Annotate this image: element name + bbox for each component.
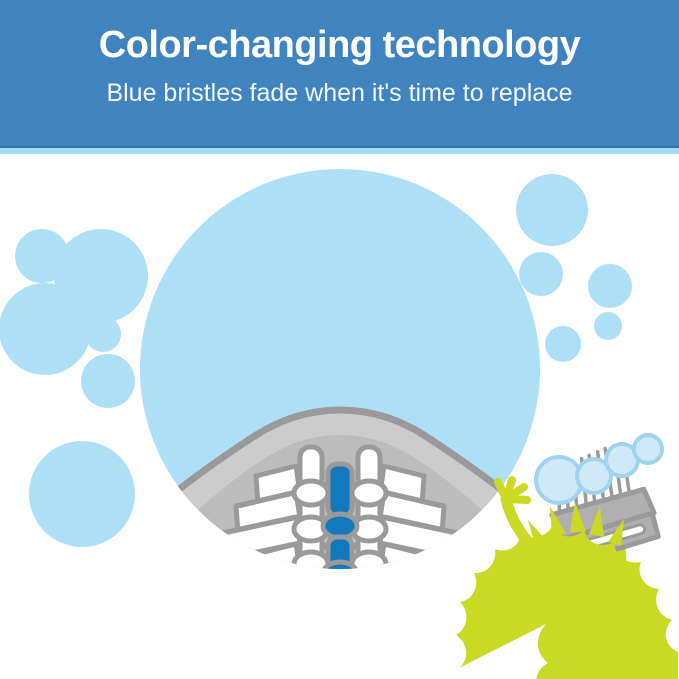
illustration-stage [0, 154, 679, 679]
indicator-bristle-oval [323, 606, 357, 630]
indicator-bristle-bar [328, 584, 352, 612]
foam-bubble [536, 457, 582, 503]
bristle-tuft [294, 481, 328, 505]
bubble [588, 264, 632, 308]
bubble [81, 354, 135, 408]
page-title: Color-changing technology [0, 22, 679, 68]
bristle-tuft [294, 552, 328, 576]
bristle-tuft [352, 481, 386, 505]
page-subtitle: Blue bristles fade when it's time to rep… [0, 77, 679, 109]
indicator-bristle-bar [328, 464, 352, 516]
bubble [85, 316, 121, 352]
bubble [519, 252, 563, 296]
header-banner: Color-changing technology Blue bristles … [0, 0, 679, 146]
monster-left-hand [498, 480, 527, 500]
bristle-tuft [294, 586, 328, 610]
bristle-blade [236, 544, 300, 584]
foam-bubble [634, 435, 662, 463]
infographic-panel: Color-changing technology Blue bristles … [0, 0, 679, 679]
illustration-svg [0, 154, 679, 679]
monster-body [456, 526, 678, 679]
bristle-tuft [352, 586, 386, 610]
bubble [594, 312, 622, 340]
bubble [0, 283, 91, 375]
indicator-bristle-oval [323, 562, 357, 586]
bristle-tuft [352, 552, 386, 576]
bubble-cluster-left [0, 229, 148, 547]
bubble [545, 326, 581, 362]
indicator-bristle-oval [323, 514, 357, 538]
finger [506, 499, 527, 500]
bubble [15, 229, 69, 283]
bristle-blade [380, 544, 444, 584]
center-blue-indicator-bristles [323, 464, 357, 630]
bubble [516, 174, 588, 246]
bubble [29, 441, 135, 547]
